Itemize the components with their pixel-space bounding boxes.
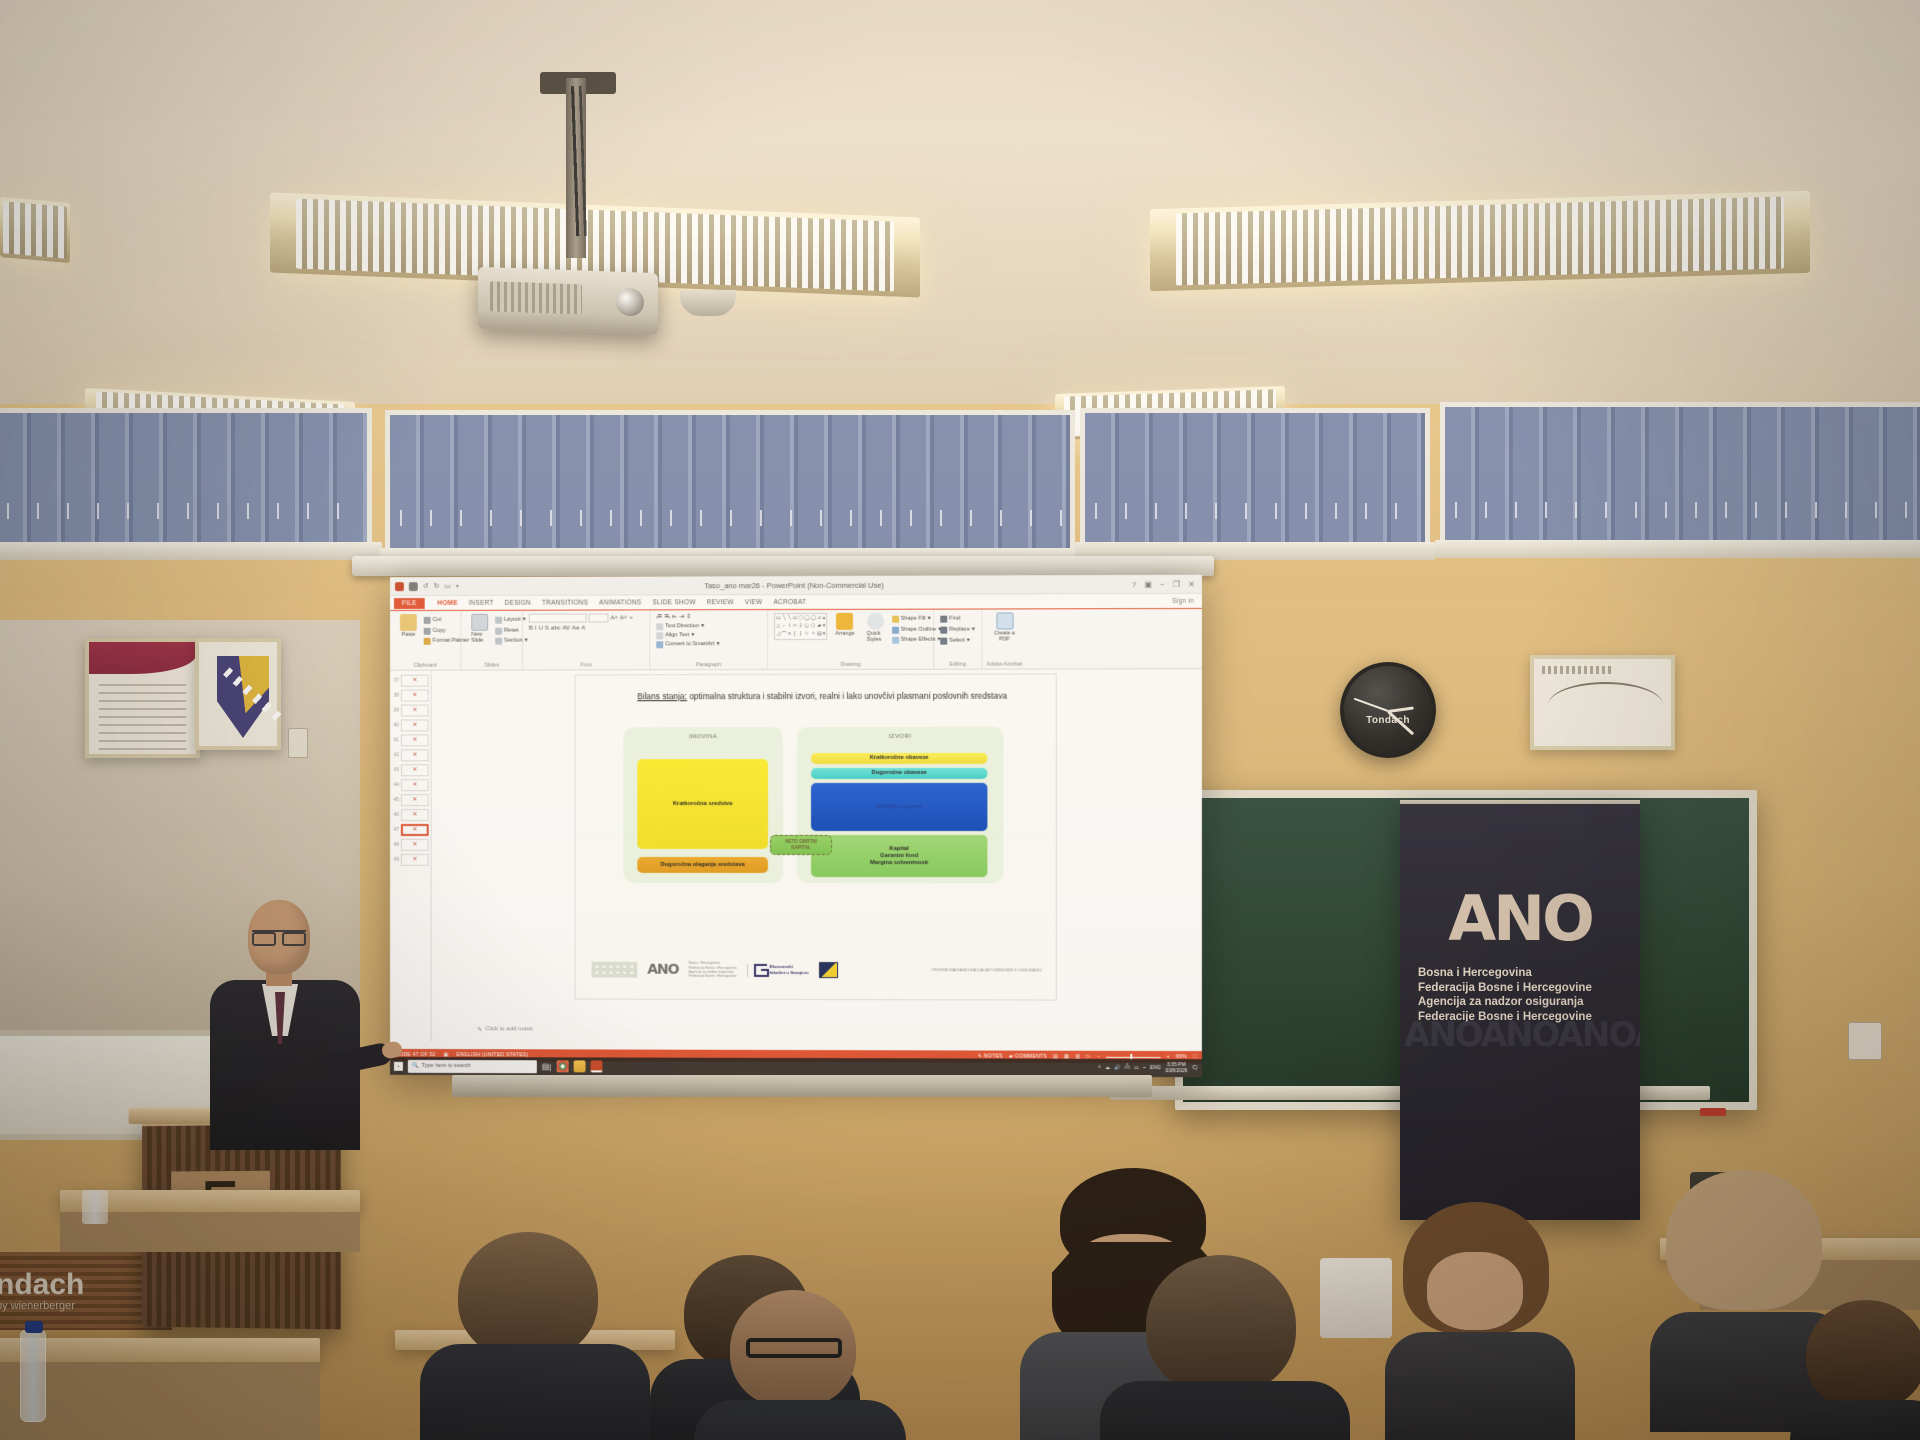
onedrive-icon[interactable]: ☁ [1105, 1065, 1110, 1071]
search-input[interactable]: 🔍 Type here to search [408, 1059, 537, 1072]
banner-line-1: Bosna i Hercegovina [1418, 966, 1630, 981]
new-slide-icon [471, 614, 488, 631]
block-kratkorocna-sredstva: Kratkoročna sredstva [637, 759, 768, 849]
shape-outline-icon [892, 626, 899, 633]
projector-cables [553, 85, 602, 236]
sources-panel: IZVORI Kratkoročne obaveze Dugoročne oba… [797, 727, 1003, 883]
thumb-placeholder-icon: ✕ [401, 838, 429, 850]
window-left [385, 410, 1075, 555]
powerpoint-workspace: 37✕ 38✕ 39✕ 40✕ 41✕ 42✕ 43✕ 44✕ 45✕ 46✕ … [390, 669, 1202, 1043]
certificate-frame [85, 638, 200, 758]
projection-screen: ↺ ↻ ▭ ▾ Taso_ano mar26 - PowerPoint (Non… [390, 575, 1202, 1077]
sign-in-link[interactable]: Sign in [1172, 597, 1202, 604]
neto-line-2: KAPITAL [785, 845, 817, 851]
input-indicator[interactable]: ENG [1150, 1065, 1161, 1071]
file-explorer-icon[interactable] [573, 1060, 585, 1072]
character-spacing-button[interactable]: AV [562, 626, 570, 632]
tab-file[interactable]: FILE [394, 598, 424, 609]
decrease-font-icon[interactable]: A˅ [620, 615, 627, 621]
banner-line-2: Federacija Bosne i Hercegovine [1418, 981, 1630, 996]
assets-panel: IMOVINA Kratkoročna sredstva Dugoročna u… [623, 727, 783, 883]
action-center-icon[interactable]: 🗨 [1191, 1065, 1197, 1071]
group-label-slides: Slides [461, 663, 522, 669]
slide-thumbnail-selected[interactable]: 47✕ [390, 822, 431, 837]
slide-thumbnail[interactable]: 48✕ [390, 837, 431, 852]
current-slide[interactable]: Bilans stanja: optimalna struktura i sta… [575, 674, 1057, 1001]
tab-insert[interactable]: INSERT [469, 599, 494, 606]
tab-view[interactable]: VIEW [745, 599, 763, 606]
shape-fill-icon [892, 616, 899, 623]
ceiling-light-far-left [0, 197, 70, 263]
task-view-icon[interactable]: ▤| [542, 1062, 552, 1071]
font-size-combo[interactable] [589, 613, 609, 622]
slide-title[interactable]: Bilans stanja: optimalna struktura i sta… [637, 691, 1029, 703]
replace-icon [940, 627, 947, 634]
ceiling-projector [478, 267, 658, 335]
faculty-line-1: Ekonomski [770, 964, 793, 969]
block-kapital-garantni-fond: Kapital Garantni fond Margina solventnos… [811, 835, 987, 877]
slide-footer: ANO Bosna i Hercegovina Federacija Bosne… [592, 955, 1042, 986]
wall-clock: Tondach [1340, 662, 1436, 758]
layout-icon [495, 617, 502, 624]
ribbon-group-drawing: ▭╲╲▭▢◯◯▱▴ △⌐⌇⇦⇩⬠⬡▰▾ ◿⌒∧{}☆✧▤▾ Arrange Qu… [768, 610, 934, 669]
bosnia-coat-of-arms-frame [195, 638, 281, 750]
powerpoint-icon[interactable] [590, 1060, 602, 1072]
block-kratkorocne-obaveze: Kratkoročne obaveze [811, 753, 987, 764]
desk-front-left-panel [0, 1362, 320, 1440]
tab-design[interactable]: DESIGN [505, 599, 531, 606]
assets-caption: IMOVINA [623, 734, 783, 740]
audience-hair [1666, 1170, 1822, 1310]
ano-rollup-banner: ANO Bosna i Hercegovina Federacija Bosne… [1400, 800, 1640, 1220]
slide-thumbnail[interactable]: 49✕ [390, 852, 431, 867]
chalk-eraser [1700, 1108, 1726, 1116]
footer-tagline: PROFESIONALNA EDUKACIJA ZA POSREDNIKE U … [932, 968, 1042, 973]
group-label-font: Font [523, 662, 649, 668]
slide-thumbnail[interactable]: 37✕ [390, 673, 431, 688]
faculty-line-2: fakultet u Sarajevu [770, 970, 809, 975]
taskbar-date: 3/28/2026 [1165, 1068, 1187, 1074]
thumb-placeholder-icon: ✕ [401, 809, 429, 821]
font-color-button[interactable]: A [581, 626, 585, 632]
bold-button[interactable]: B [529, 626, 533, 632]
new-slide-button[interactable]: New Slide [467, 614, 492, 646]
audience-body [1100, 1381, 1350, 1440]
smartart-icon [656, 641, 663, 648]
sources-caption: IZVORI [797, 734, 1003, 740]
audience-glasses [746, 1338, 842, 1358]
copy-icon [424, 627, 431, 634]
audience-body [420, 1344, 650, 1440]
slide-thumbnail[interactable]: 44✕ [390, 777, 431, 792]
footer-ano-lines: Bosna i Hercegovina Federacija Bosne i H… [689, 961, 737, 979]
thumb-placeholder-icon: ✕ [401, 704, 429, 716]
strikethrough-button[interactable]: abc [551, 626, 561, 632]
powerpoint-title-bar: ↺ ↻ ▭ ▾ Taso_ano mar26 - PowerPoint (Non… [390, 575, 1202, 596]
slide-thumbnail[interactable]: 42✕ [390, 747, 431, 762]
show-hidden-icons-icon[interactable]: ˄ [1098, 1065, 1101, 1071]
audience-body [1385, 1332, 1575, 1440]
banner-ano-logo: ANO [1400, 882, 1640, 955]
acrobat-icon [996, 612, 1013, 629]
tab-transitions[interactable]: TRANSITIONS [542, 599, 588, 606]
align-text-button[interactable]: Align Text▾ [656, 631, 761, 640]
powerpoint-window: ↺ ↻ ▭ ▾ Taso_ano mar26 - PowerPoint (Non… [390, 575, 1202, 1077]
tab-home[interactable]: HOME [437, 599, 457, 606]
drinking-glass [82, 1190, 108, 1224]
ceiling-sensor [680, 290, 736, 316]
slide-thumbnail[interactable]: 40✕ [390, 717, 431, 732]
audience-member-6 [1385, 1210, 1575, 1440]
window-far-right [1440, 402, 1920, 547]
block-tehnicke-rezerve: Tehničke rezerve [811, 783, 987, 831]
create-pdf-label: Create a PDF [992, 630, 1016, 642]
slide-thumbnail[interactable]: 43✕ [390, 762, 431, 777]
slide-thumbnail[interactable]: 41✕ [390, 732, 431, 747]
change-case-button[interactable]: Aa [572, 626, 579, 632]
diagram-frame [1530, 655, 1675, 750]
slide-thumbnail[interactable]: 45✕ [390, 792, 431, 807]
group-label-acrobat: Adobe Acrobat [982, 662, 1026, 668]
group-label-drawing: Drawing [768, 662, 933, 668]
thumb-placeholder-icon: ✕ [401, 689, 429, 701]
audience-body [1790, 1400, 1920, 1440]
bottle-cap [25, 1321, 43, 1333]
group-label-clipboard: Clipboard [390, 663, 460, 669]
new-slide-label: New Slide [471, 632, 488, 644]
lecture-hall-photo: Tondach ANO Bosna i Hercegovina Federaci… [0, 0, 1920, 1440]
ribbon-group-acrobat: Create a PDF Adobe Acrobat [982, 609, 1026, 668]
audience-body [694, 1400, 906, 1440]
text-direction-icon [656, 623, 663, 630]
desk-front-left [0, 1338, 320, 1362]
thumb-placeholder-icon: ✕ [401, 719, 429, 731]
scissors-icon [424, 617, 431, 624]
bluetooth-icon[interactable]: ⌁ [1143, 1065, 1146, 1071]
footer-ano-line-4: Federacije Bosne i Hercegovine [689, 974, 737, 978]
line-spacing-icon[interactable]: ⇕ [686, 613, 691, 620]
zoom-slider[interactable] [1106, 1056, 1160, 1057]
audience-member-3 [690, 1290, 910, 1440]
slide-thumbnail-panel[interactable]: 37✕ 38✕ 39✕ 40✕ 41✕ 42✕ 43✕ 44✕ 45✕ 46✕ … [390, 671, 432, 1041]
group-label-paragraph: Paragraph [650, 662, 767, 668]
system-tray[interactable]: ˄ ☁ 🔊 🖧 ▭ ⌁ ENG 3:35 PM 3/28/2026 🗨 [1098, 1062, 1198, 1074]
audience-head [1806, 1300, 1920, 1410]
tab-animations[interactable]: ANIMATIONS [599, 599, 641, 606]
paste-icon [400, 614, 417, 631]
ribbon-group-clipboard: Paste Cut Copy Format Painter [390, 611, 461, 670]
thumb-placeholder-icon: ✕ [401, 734, 429, 746]
tab-review[interactable]: REVIEW [707, 599, 734, 606]
block-neto-obrtni-kapital: NETO OBRTNI KAPITAL [770, 835, 832, 855]
tab-acrobat[interactable]: ACROBAT [773, 598, 806, 605]
window-center-right [1080, 408, 1430, 548]
clear-formatting-icon[interactable]: ⌁ [629, 614, 633, 621]
audience-member-8 [1790, 1300, 1920, 1440]
windows-start-icon[interactable] [394, 1061, 403, 1070]
ribbon-group-paragraph: ≔ ≕ ⇤ ⇥ ⇕ Text Direction▾ Align Text▾ [650, 610, 768, 669]
convert-smartart-button[interactable]: Convert to SmartArt▾ [656, 640, 761, 649]
wall-outlet [1848, 1022, 1882, 1060]
audience-head [1146, 1255, 1296, 1395]
find-button[interactable]: Find [940, 615, 975, 624]
faculty-logo: Ekonomski fakultet u Sarajevu [747, 963, 809, 976]
sponsor-logo-icon [819, 962, 838, 978]
presenter-glasses [252, 930, 306, 940]
ribbon-group-editing: Find Replace▾ Select▾ Editing [934, 610, 982, 669]
increase-indent-icon[interactable]: ⇥ [679, 613, 684, 620]
decrease-indent-icon[interactable]: ⇤ [672, 613, 677, 620]
italic-button[interactable]: I [535, 626, 537, 632]
font-family-combo[interactable] [529, 614, 587, 623]
thumb-placeholder-icon: ✕ [401, 853, 429, 865]
shape-effects-icon [892, 637, 899, 644]
slide-thumbnail[interactable]: 39✕ [390, 703, 431, 718]
slide-thumbnail[interactable]: 38✕ [390, 688, 431, 703]
volume-icon[interactable]: 🔊 [1114, 1065, 1120, 1071]
taskbar-clock[interactable]: 3:35 PM 3/28/2026 [1165, 1062, 1187, 1074]
underline-button[interactable]: U [539, 626, 543, 632]
find-icon [940, 616, 947, 623]
paste-label: Paste [402, 632, 416, 638]
banner-pattern-text: ANOANOANOANOANOANOANOANOANOANOANOANOANOA… [1400, 1018, 1640, 1220]
slide-editing-stage: Bilans stanja: optimalna struktura i sta… [432, 669, 1202, 1043]
select-icon [940, 638, 947, 645]
tab-slide-show[interactable]: SLIDE SHOW [652, 599, 695, 606]
arrange-button[interactable]: Arrange [831, 613, 858, 637]
text-direction-button[interactable]: Text Direction▾ [656, 622, 761, 631]
slide-thumbnail[interactable]: 46✕ [390, 807, 431, 822]
presenter [210, 900, 360, 1150]
increase-font-icon[interactable]: A˄ [610, 615, 617, 621]
shadow-button[interactable]: S [545, 626, 549, 632]
group-label-editing: Editing [934, 662, 981, 668]
ribbon-group-slides: New Slide Layout▾ Reset Sectio [461, 611, 523, 670]
block-dugorocne-obaveze: Dugoročne obaveze [811, 768, 987, 779]
pattern-logo-icon [592, 962, 638, 978]
block-dugorocna-ulaganja: Dugoročna ulaganja sredstava [637, 857, 768, 873]
chrome-icon[interactable] [556, 1060, 568, 1072]
thumb-placeholder-icon: ✕ [401, 779, 429, 791]
search-placeholder: Type here to search [422, 1063, 471, 1069]
thumb-placeholder-icon: ✕ [401, 794, 429, 806]
quick-styles-icon [867, 613, 884, 630]
clock-brand-label: Tondach [1344, 715, 1432, 726]
coat-of-arms-icon [217, 656, 269, 738]
battery-icon[interactable]: ▭ [1134, 1065, 1139, 1071]
arrange-icon [836, 613, 853, 630]
document-title: Taso_ano mar26 - PowerPoint (Non-Commerc… [390, 579, 1202, 590]
ribbon-group-font: A˄ A˅ ⌁ B I U S abc AV Aa A Font [523, 610, 650, 669]
align-text-icon [656, 632, 663, 639]
reset-icon [495, 627, 502, 634]
audience-member-1 [420, 1232, 650, 1440]
ribbon[interactable]: Paste Cut Copy Format Painter [390, 609, 1202, 671]
bullets-icon[interactable]: ≔ [656, 613, 662, 620]
footer-ano-logo: ANO [647, 962, 678, 978]
water-bottle [20, 1330, 46, 1422]
notes-pane[interactable]: ✎ Click to add notes [477, 1018, 1198, 1042]
faculty-name: Ekonomski fakultet u Sarajevu [770, 964, 809, 975]
slide-title-rest: optimalna struktura i stabilni izvori, r… [687, 691, 1007, 702]
shapes-gallery[interactable]: ▭╲╲▭▢◯◯▱▴ △⌐⌇⇦⇩⬠⬡▰▾ ◿⌒∧{}☆✧▤▾ [774, 613, 827, 640]
banner-line-3: Agencija za nadzor osiguranja [1418, 995, 1630, 1010]
projection-screen-bottom-bar [452, 1075, 1152, 1097]
audience-member-5 [1100, 1255, 1350, 1440]
window-far-left [0, 408, 372, 548]
paintbrush-icon [424, 638, 431, 645]
notes-placeholder: Click to add notes [485, 1026, 532, 1032]
window-sill-1 [0, 542, 382, 560]
slide-title-underlined: Bilans stanja: [637, 691, 687, 701]
thumb-placeholder-icon: ✕ [401, 824, 429, 836]
light-switch[interactable] [288, 728, 308, 758]
replace-button[interactable]: Replace▾ [940, 626, 975, 635]
audience-face [1427, 1252, 1523, 1330]
faculty-mark-icon [754, 963, 767, 976]
numbering-icon[interactable]: ≕ [664, 613, 670, 620]
create-pdf-button[interactable]: Create a PDF [988, 612, 1020, 642]
select-button[interactable]: Select▾ [940, 637, 975, 646]
search-icon: 🔍 [412, 1063, 419, 1069]
thumb-placeholder-icon: ✕ [401, 749, 429, 761]
paste-button[interactable]: Paste [396, 614, 421, 646]
quick-styles-button[interactable]: Quick Styles [863, 613, 888, 643]
window-sill-4 [1435, 540, 1920, 558]
projector-lens [616, 288, 644, 317]
thumb-placeholder-icon: ✕ [401, 764, 429, 776]
add-notes-icon: ✎ [477, 1026, 482, 1033]
thumb-placeholder-icon: ✕ [401, 674, 429, 686]
banner-org-lines: Bosna i Hercegovina Federacija Bosne i H… [1418, 966, 1630, 1024]
section-icon [495, 638, 502, 645]
projection-screen-case [352, 556, 1214, 576]
network-icon[interactable]: 🖧 [1124, 1064, 1130, 1072]
audience-head [458, 1232, 598, 1360]
